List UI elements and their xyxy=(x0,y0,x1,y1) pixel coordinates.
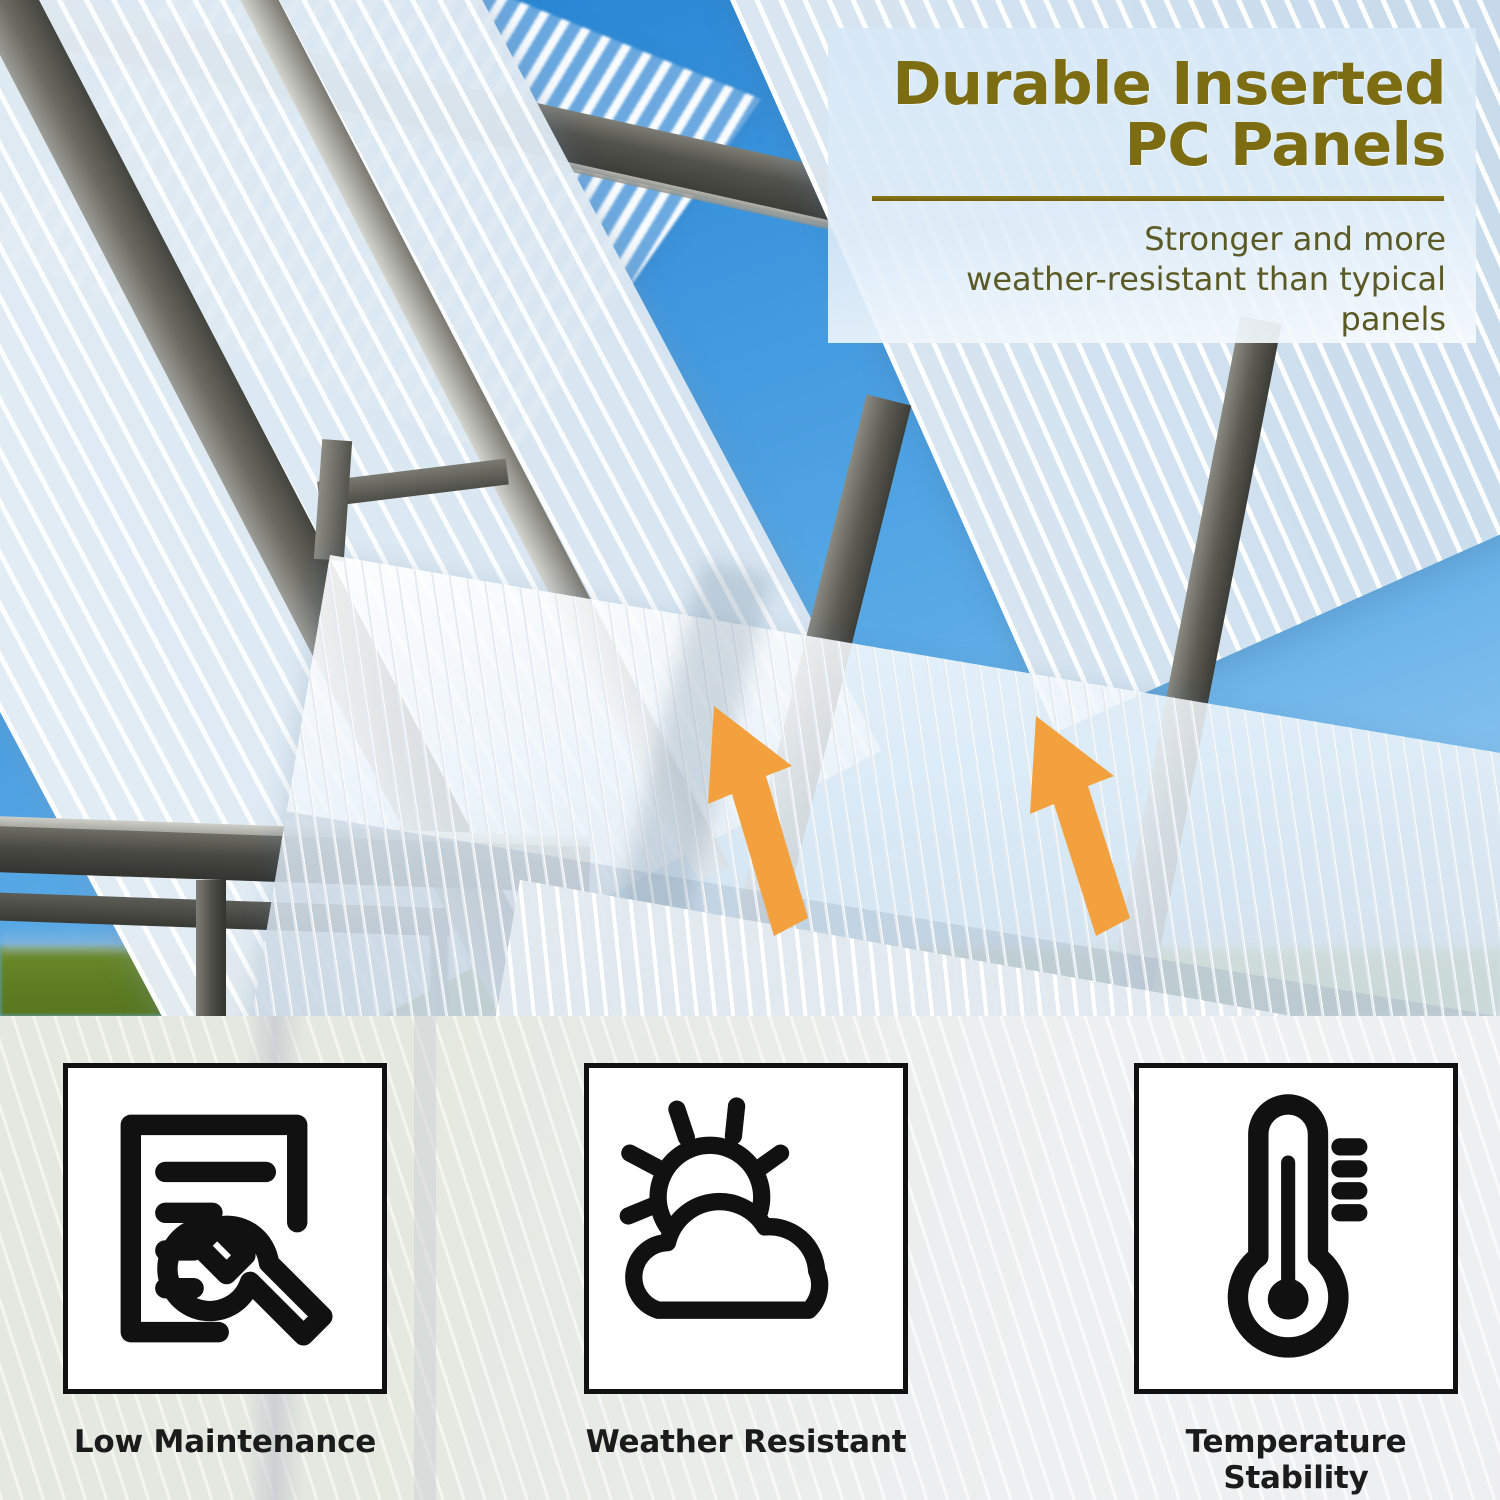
frame-post xyxy=(196,880,226,1016)
banner-subtitle-line-2: weather-resistant than typical panels xyxy=(966,260,1446,338)
sun-cloud-icon xyxy=(589,1068,903,1389)
icon-frame xyxy=(63,1063,387,1394)
feature-label: Low Maintenance xyxy=(63,1424,387,1460)
document-wrench-icon xyxy=(68,1068,382,1389)
banner-title: Durable Inserted PC Panels xyxy=(858,54,1446,176)
feature-band: Low Maintenance xyxy=(0,1016,1500,1500)
banner-title-line-1: Durable Inserted xyxy=(892,49,1446,118)
feature-item-weather-resistant: Weather Resistant xyxy=(584,1063,908,1460)
feature-item-low-maintenance: Low Maintenance xyxy=(63,1063,387,1460)
thermometer-icon xyxy=(1139,1068,1453,1389)
icon-frame xyxy=(584,1063,908,1394)
banner-subtitle-line-1: Stronger and more xyxy=(1144,220,1446,258)
icon-frame xyxy=(1134,1063,1458,1394)
arrow-right-icon xyxy=(1012,700,1202,950)
feature-label: Temperature Stability xyxy=(1134,1424,1458,1496)
product-photo: Durable Inserted PC Panels Stronger and … xyxy=(0,0,1500,1016)
product-feature-image: Durable Inserted PC Panels Stronger and … xyxy=(0,0,1500,1500)
title-banner: Durable Inserted PC Panels Stronger and … xyxy=(828,28,1476,343)
feature-item-temperature-stability: Temperature Stability xyxy=(1134,1063,1458,1496)
banner-divider xyxy=(872,196,1444,201)
banner-title-line-2: PC Panels xyxy=(1125,110,1446,179)
banner-subtitle: Stronger and more weather-resistant than… xyxy=(858,219,1446,339)
feature-label: Weather Resistant xyxy=(584,1424,908,1460)
feature-list: Low Maintenance xyxy=(0,1016,1500,1500)
arrow-left-icon xyxy=(690,690,880,950)
